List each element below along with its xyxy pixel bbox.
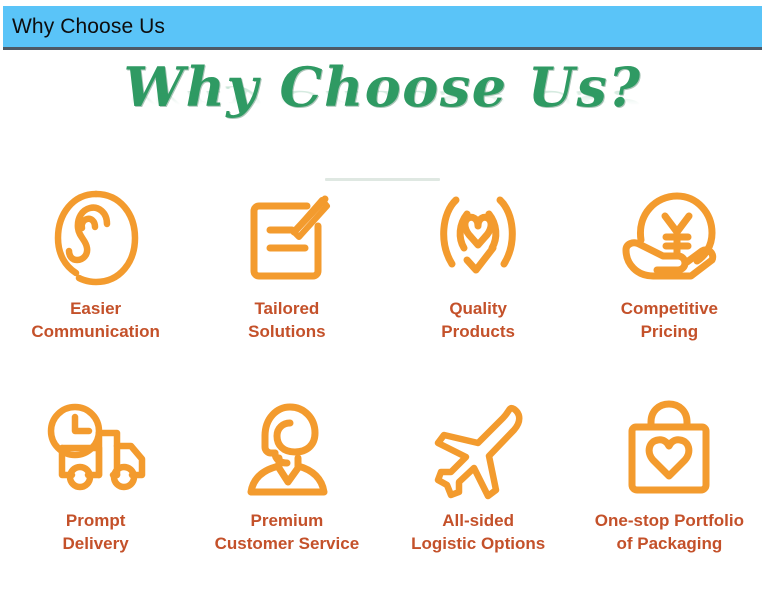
document-pencil-icon (195, 179, 378, 297)
window-title: Why Choose Us (3, 16, 165, 37)
feature-label: Premium Customer Service (195, 509, 378, 555)
hand-yen-coin-icon (578, 179, 761, 297)
feature-label: Competitive Pricing (578, 297, 761, 343)
feature-card-prompt-delivery[interactable]: Prompt Delivery (0, 387, 191, 599)
delivery-truck-clock-icon (4, 391, 187, 509)
airplane-icon (387, 391, 570, 509)
heart-signal-check-icon (387, 179, 570, 297)
hero-section: Why Choose Us? Why Choose Us? (0, 53, 765, 165)
feature-card-one-stop-portfolio[interactable]: One-stop Portfolio of Packaging (574, 387, 765, 599)
shopping-bag-heart-icon (578, 391, 761, 509)
headset-agent-icon (195, 391, 378, 509)
feature-label: One-stop Portfolio of Packaging (578, 509, 761, 555)
feature-card-premium-customer-service[interactable]: Premium Customer Service (191, 387, 382, 599)
features-grid: Easier Communication Tailored Solutions (0, 165, 765, 599)
feature-label: Easier Communication (4, 297, 187, 343)
feature-card-all-sided-logistic-options[interactable]: All-sided Logistic Options (383, 387, 574, 599)
page-content: Why Choose Us? Why Choose Us? Easier Com… (0, 53, 765, 599)
feature-label: Tailored Solutions (195, 297, 378, 343)
ear-listening-icon (4, 179, 187, 297)
feature-card-tailored-solutions[interactable]: Tailored Solutions (191, 175, 382, 387)
feature-label: Prompt Delivery (4, 509, 187, 555)
feature-card-competitive-pricing[interactable]: Competitive Pricing (574, 175, 765, 387)
window-header-bar: Why Choose Us (3, 6, 762, 50)
feature-card-quality-products[interactable]: Quality Products (383, 175, 574, 387)
feature-card-easier-communication[interactable]: Easier Communication (0, 175, 191, 387)
title-divider (325, 178, 440, 181)
hero-title-wrap: Why Choose Us? Why Choose Us? (123, 59, 641, 168)
feature-label: All-sided Logistic Options (387, 509, 570, 555)
page-title-reflection: Why Choose Us? (123, 86, 641, 112)
feature-label: Quality Products (387, 297, 570, 343)
